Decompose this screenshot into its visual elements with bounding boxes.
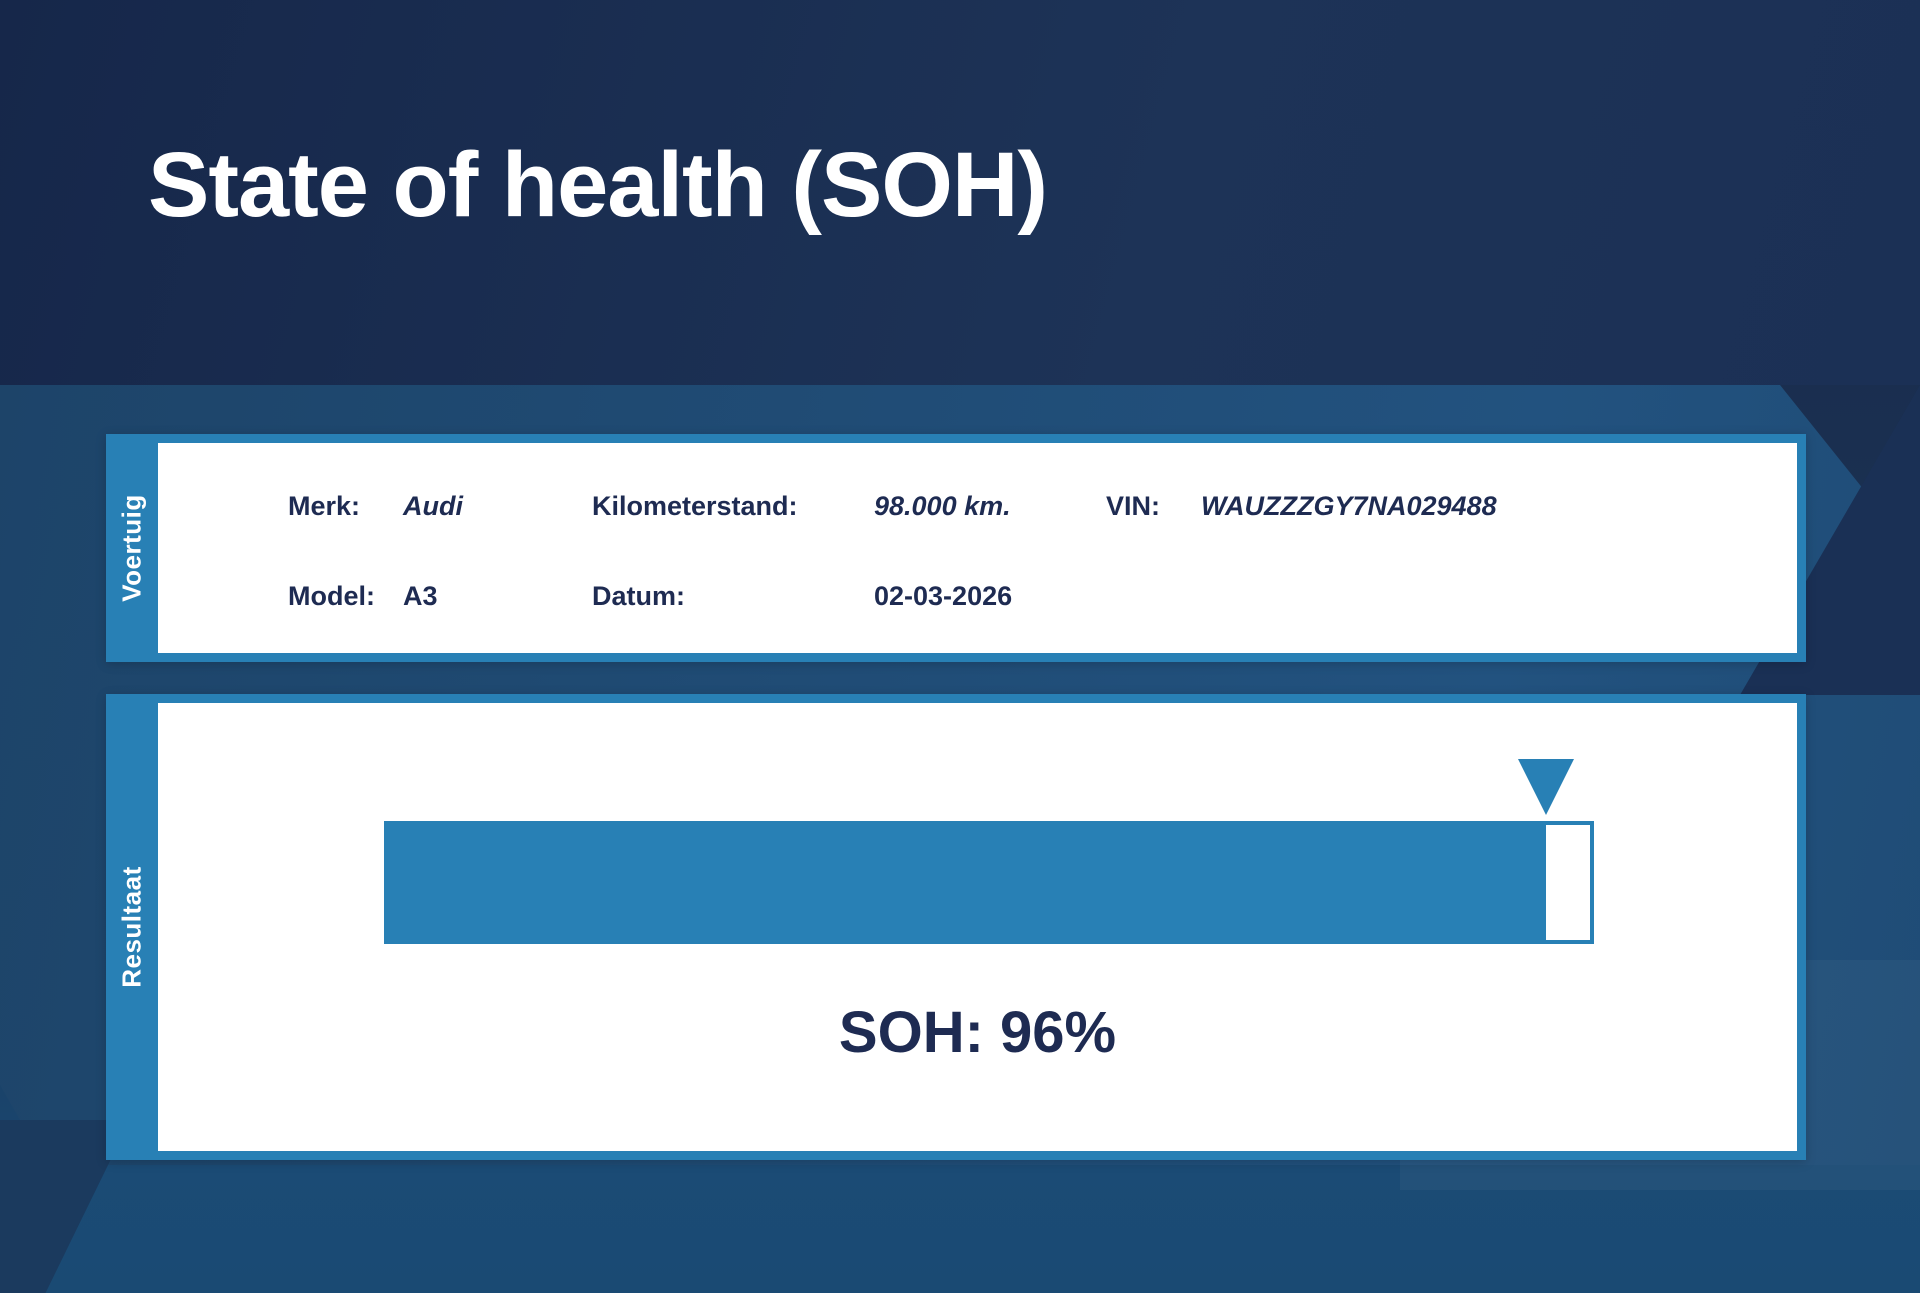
datum-value: 02-03-2026: [874, 581, 1012, 612]
soh-gauge: [384, 821, 1594, 944]
page-title: State of health (SOH): [148, 133, 1047, 238]
vin-label: VIN:: [1106, 491, 1160, 522]
soh-gauge-marker-triangle-icon: [1518, 759, 1574, 815]
model-value: A3: [403, 581, 438, 612]
vehicle-field-grid: Merk: Audi Kilometerstand: 98.000 km. VI…: [158, 443, 1797, 653]
vehicle-card-tab-label: Voertuig: [117, 494, 148, 602]
vehicle-card-tab: Voertuig: [106, 434, 158, 662]
kilometerstand-label: Kilometerstand:: [592, 491, 798, 522]
merk-label: Merk:: [288, 491, 360, 522]
result-card-tab: Resultaat: [106, 694, 158, 1160]
result-card-tab-label: Resultaat: [117, 866, 148, 988]
slide-root: State of health (SOH) Voertuig Merk: Aud…: [0, 0, 1920, 1293]
vehicle-card-body: Merk: Audi Kilometerstand: 98.000 km. VI…: [158, 443, 1797, 653]
vin-value: WAUZZZGY7NA029488: [1201, 491, 1497, 522]
merk-value: Audi: [403, 491, 463, 522]
datum-label: Datum:: [592, 581, 685, 612]
soh-gauge-fill: [384, 821, 1546, 944]
vehicle-info-card: Voertuig Merk: Audi Kilometerstand: 98.0…: [106, 434, 1806, 662]
result-card-body: SOH: 96%: [158, 703, 1797, 1151]
soh-value-text: SOH: 96%: [158, 999, 1797, 1066]
kilometerstand-value: 98.000 km.: [874, 491, 1011, 522]
model-label: Model:: [288, 581, 375, 612]
result-card: Resultaat SOH: 96%: [106, 694, 1806, 1160]
